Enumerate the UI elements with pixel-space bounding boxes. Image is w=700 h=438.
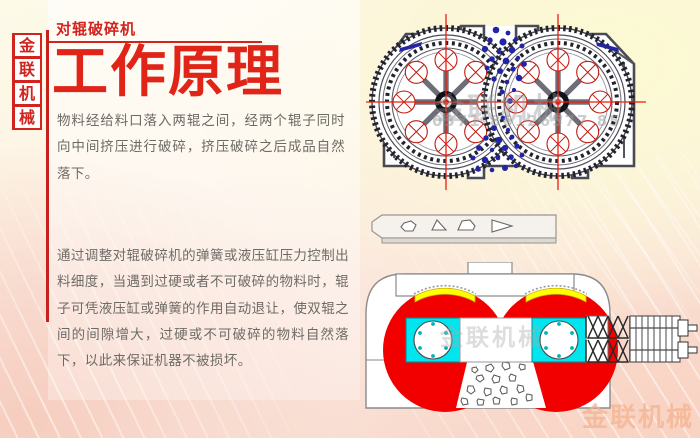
bearing-block-right [532,318,586,362]
brand-logo-badge: 金 联 机 械 [12,33,42,130]
paragraph-adjustment: 通过调整对辊破碎机的弹簧或液压缸压力控制出料细度，当遇到过硬或者不可破碎的物料时… [57,243,349,375]
logo-char-2: 联 [15,59,40,80]
bearing-block-left [406,318,460,362]
left-text-column: 金 联 机 械 对辊破碎机 工作原理 物料经给料口落入两辊之间，经两个辊子同时向… [0,0,360,438]
crusher-cross-section-diagram [366,6,696,202]
logo-char-1: 金 [15,35,40,56]
center-gap-plate [460,318,532,362]
logo-char-3: 机 [15,83,40,104]
feed-chute-diagram [370,212,560,254]
page-title: 工作原理 [52,44,284,101]
logo-char-4: 械 [15,107,40,128]
paragraph-principle: 物料经给料口落入两辊之间，经两个辊子同时向中间挤压进行破碎，挤压破碎之后成品自然… [57,108,345,187]
crusher-front-view-diagram [360,262,700,438]
crushed-output-material [456,358,546,408]
adjusting-nuts [678,320,697,358]
vertical-red-rule [46,30,49,322]
section-subtitle: 对辊破碎机 [56,18,136,39]
spring-assembly [586,316,697,362]
